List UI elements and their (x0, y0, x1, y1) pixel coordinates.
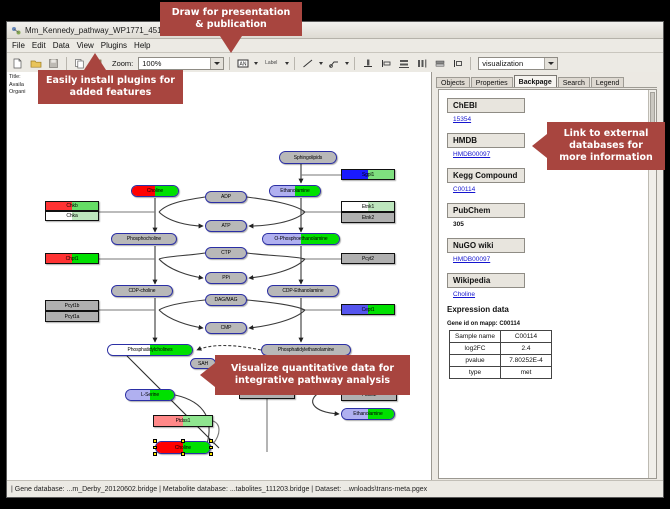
line-dropdown-icon[interactable] (319, 62, 323, 65)
node-label: Phosphocholine (127, 236, 161, 242)
pathway-node-dagmag[interactable]: DAG/MAG (205, 294, 247, 306)
pathway-node-ctp[interactable]: CTP (205, 247, 247, 259)
stack-icon[interactable] (432, 56, 447, 71)
save-disk-icon[interactable] (46, 56, 61, 71)
node-label: PPi (222, 275, 229, 281)
menu-plugins[interactable]: Plugins (101, 41, 127, 50)
node-label: Chkb (66, 203, 77, 209)
node-label: ADP (221, 194, 231, 200)
menu-data[interactable]: Data (53, 41, 70, 50)
node-label: Etnk2 (362, 215, 374, 221)
pathway-node-cdp-ethanolamine[interactable]: CDP-Ethanolamine (267, 285, 339, 297)
callout-draw-for-presentation: Draw for presentation& publication (160, 2, 302, 36)
node-label: ATP (221, 223, 230, 229)
open-folder-icon[interactable] (28, 56, 43, 71)
tab-legend-label: Legend (596, 80, 619, 87)
node-label: CTP (221, 250, 231, 256)
selection-handle[interactable] (181, 439, 185, 443)
node-label: CMP (221, 325, 232, 331)
callout-draw-arrow-icon (220, 36, 242, 53)
info-title-label: Title: (9, 74, 26, 82)
expression-row: Sample nameC00114 (450, 331, 552, 343)
tab-underline (436, 87, 657, 88)
toolbar-separator-2 (229, 57, 230, 70)
interaction-dropdown-icon[interactable] (345, 62, 349, 65)
node-label: CDP-choline (129, 288, 156, 294)
new-file-icon[interactable] (10, 56, 25, 71)
expression-table: Sample nameC00114log2FC2.4pvalue7.80252E… (449, 330, 552, 379)
node-label: Phosphatidylethanolamine (278, 347, 334, 353)
side-panel-tabs: Objects Properties Backpage Search Legen… (436, 74, 661, 88)
db-value-pubchem: 305 (453, 221, 648, 228)
callout-draw-text: Draw for presentation& publication (172, 7, 291, 31)
db-header-nugo-wiki: NuGO wiki (447, 238, 525, 253)
pathway-node-ppi[interactable]: PPi (205, 272, 247, 284)
gene-id-on-mapp: Gene id on mapp: C00114 (447, 321, 648, 327)
pathway-node-l-serine-left[interactable]: L-Serine (125, 389, 175, 401)
pathway-node-ethanolamine-right[interactable]: Ethanolamine (341, 408, 395, 420)
label-text: Label (265, 60, 277, 66)
expression-value: 7.80252E-4 (501, 355, 552, 367)
expression-key: log2FC (450, 343, 501, 355)
chevron-down-icon[interactable] (210, 58, 223, 69)
node-label: Pcyt1a (65, 314, 80, 320)
pathway-node-cdp-choline[interactable]: CDP-choline (111, 285, 173, 297)
visualization-combo[interactable]: visualization (478, 57, 558, 70)
pathway-node-atp[interactable]: ATP (205, 220, 247, 232)
db-value-wikipedia[interactable]: Choline (453, 291, 648, 298)
svg-text:AN: AN (239, 61, 246, 67)
pathvisio-app-icon (11, 26, 21, 35)
db-value-nugo-wiki[interactable]: HMDB00097 (453, 256, 648, 263)
menu-help[interactable]: Help (134, 41, 150, 50)
node-label: Pcyt2 (362, 256, 374, 262)
callout-plugins-arrow-icon (84, 53, 106, 70)
node-label: CDP-Ethanolamine (282, 288, 323, 294)
menubar: File Edit Data View Plugins Help (7, 39, 663, 53)
expression-value: C00114 (501, 331, 552, 343)
callout-link-external-databases: Link to externaldatabases formore inform… (547, 122, 665, 170)
callout-links-arrow-icon (532, 134, 547, 158)
expression-key: Sample name (450, 331, 501, 343)
pathway-node-pcyt1a[interactable]: Pcyt1a (45, 311, 99, 322)
toolbar-separator-4 (354, 57, 355, 70)
node-label: Sgpl1 (362, 172, 374, 178)
visualization-chevron-icon[interactable] (544, 58, 557, 69)
node-label: L-Serine (141, 392, 159, 398)
info-organism-label: Organi (9, 89, 26, 97)
pathway-node-phosphatidylcholines[interactable]: Phosphatidylcholines (107, 344, 193, 356)
node-label: Ethanolamine (353, 411, 382, 417)
expression-data-heading: Expression data (447, 305, 648, 314)
window-titlebar: Mm_Kennedy_pathway_WP1771_45176.gpml (7, 22, 663, 39)
datanode-dropdown-icon[interactable] (254, 62, 258, 65)
zoom-label: Zoom: (112, 59, 133, 68)
interaction-icon[interactable] (326, 56, 341, 71)
pathway-node-phosphocholine[interactable]: Phosphocholine (111, 233, 177, 245)
pathway-node-chkb[interactable]: Chkb (45, 201, 99, 211)
selection-handle[interactable] (209, 452, 213, 456)
pathway-node-sgpl1[interactable]: Sgpl1 (341, 169, 395, 180)
pathway-node-choline-top[interactable]: Choline (131, 185, 179, 197)
pathway-node-chpt1[interactable]: Chpt1 (45, 253, 99, 264)
node-label: Etnk1 (362, 204, 374, 210)
selection-handle[interactable] (209, 439, 213, 443)
pathway-node-pcyt1b[interactable]: Pcyt1b (45, 300, 99, 311)
callout-easily-install-plugins: Easily install plugins foradded features (38, 70, 183, 104)
callout-visualize-arrow-icon (200, 363, 215, 387)
distribute-horizontal-icon[interactable] (414, 56, 429, 71)
zoom-value: 100% (142, 59, 161, 68)
statusbar: | Gene database: ...m_Derby_20120602.bri… (7, 480, 663, 497)
zoom-combo[interactable]: 100% (138, 57, 224, 70)
order-icon[interactable] (450, 56, 465, 71)
expression-row: pvalue7.80252E-4 (450, 355, 552, 367)
distribute-vertical-icon[interactable] (396, 56, 411, 71)
tab-backpage-label: Backpage (519, 79, 552, 86)
toolbar-separator (66, 57, 67, 70)
expression-key: type (450, 367, 501, 379)
menu-view[interactable]: View (77, 41, 94, 50)
toolbar-separator-5 (470, 57, 471, 70)
callout-visualize-text: Visualize quantitative data forintegrati… (231, 363, 394, 387)
selection-handle[interactable] (209, 446, 213, 450)
align-top-icon[interactable] (360, 56, 375, 71)
pathway-node-sphingolipids[interactable]: Sphingolipids (279, 151, 337, 164)
tab-search-label: Search (563, 80, 585, 87)
pathway-node-etnk1[interactable]: Etnk1 (341, 201, 395, 212)
node-label: Cept1 (362, 307, 375, 313)
db-header-wikipedia: Wikipedia (447, 273, 525, 288)
node-label: Chka (66, 213, 77, 219)
align-left-icon[interactable] (378, 56, 393, 71)
menu-edit[interactable]: Edit (32, 41, 46, 50)
node-label: Choline (175, 445, 191, 451)
pathway-node-cmp[interactable]: CMP (205, 322, 247, 334)
db-header-pubchem: PubChem (447, 203, 525, 218)
label-icon[interactable]: Label (261, 56, 281, 71)
toolbar-separator-3 (294, 57, 295, 70)
selection-handle[interactable] (153, 439, 157, 443)
pathway-node-o-phosphoethanolamine[interactable]: O-Phosphoethanolamine (262, 233, 340, 245)
menu-file[interactable]: File (12, 41, 25, 50)
pathway-node-etnk2[interactable]: Etnk2 (341, 212, 395, 223)
selection-handle[interactable] (153, 446, 157, 450)
db-header-kegg-compound: Kegg Compound (447, 168, 525, 183)
line-icon[interactable] (300, 56, 315, 71)
node-label: Chpt1 (66, 256, 79, 262)
tab-properties-label: Properties (476, 80, 508, 87)
db-header-chebi: ChEBI (447, 98, 525, 113)
expression-row: typemet (450, 367, 552, 379)
pathway-canvas[interactable]: Title: Availa Organi (7, 72, 432, 481)
node-label: Phosphatidylcholines (128, 347, 173, 353)
statusbar-text: | Gene database: ...m_Derby_20120602.bri… (11, 486, 427, 493)
pathway-node-ethanolamine-top[interactable]: Ethanolamine (269, 185, 321, 197)
expression-row: log2FC2.4 (450, 343, 552, 355)
pathway-node-adp[interactable]: ADP (205, 191, 247, 203)
tab-objects-label: Objects (441, 80, 465, 87)
callout-visualize-quantitative-data: Visualize quantitative data forintegrati… (215, 355, 410, 395)
node-label: Choline (147, 188, 163, 194)
node-label: Pcyt1b (65, 303, 80, 309)
selection-handle[interactable] (181, 452, 185, 456)
visualization-value: visualization (482, 59, 523, 68)
datanode-icon[interactable]: AN (235, 56, 250, 71)
node-label: Sphingolipids (294, 155, 322, 161)
pathway-node-ptdss1[interactable]: Ptdss1 (153, 415, 213, 427)
expression-key: pvalue (450, 355, 501, 367)
callout-links-text: Link to externaldatabases formore inform… (559, 128, 653, 164)
db-header-hmdb: HMDB (447, 133, 525, 148)
expression-value: 2.4 (501, 343, 552, 355)
node-label: DAG/MAG (215, 297, 238, 303)
pathway-node-chka[interactable]: Chka (45, 211, 99, 221)
pathway-node-pcyt2[interactable]: Pcyt2 (341, 253, 395, 264)
pathway-node-cept1[interactable]: Cept1 (341, 304, 395, 315)
label-dropdown-icon[interactable] (285, 62, 289, 65)
info-availability-label: Availa (9, 82, 26, 90)
screenshot-root: Mm_Kennedy_pathway_WP1771_45176.gpml Fil… (0, 0, 670, 509)
selection-handle[interactable] (153, 452, 157, 456)
node-label: O-Phosphoethanolamine (274, 236, 327, 242)
node-label: Ptdss1 (176, 418, 191, 424)
expression-value: met (501, 367, 552, 379)
node-label: Ethanolamine (280, 188, 309, 194)
db-value-kegg-compound[interactable]: C00114 (453, 186, 648, 193)
pathway-info-labels: Title: Availa Organi (9, 74, 26, 97)
callout-plugins-text: Easily install plugins foradded features (46, 75, 175, 99)
